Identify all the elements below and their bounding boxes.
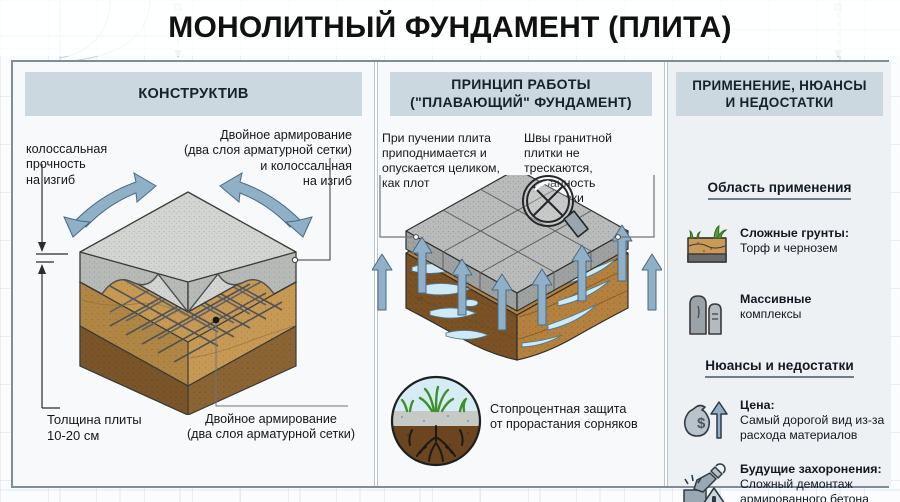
caption-slab-thickness: Толщина плиты 10-20 см [47, 412, 142, 444]
right-section-1-title: Область применения [668, 180, 891, 195]
list-item: Будущие захоронения: Сложный демонтаж ар… [682, 460, 890, 502]
list-item-body: комплексы [740, 307, 801, 321]
list-item-text: Будущие захоронения: Сложный демонтаж ар… [740, 460, 890, 502]
list-item-body: Самый дорогой вид из-за расхода материал… [740, 413, 884, 442]
list-item: Сложные грунты: Торф и чернозем [682, 224, 890, 266]
page-title: МОНОЛИТНЫЙ ФУНДАМЕНТ (ПЛИТА) [168, 11, 731, 45]
panel-middle-header: ПРИНЦИП РАБОТЫ ("ПЛАВАЮЩИЙ" ФУНДАМЕНТ) [390, 72, 652, 116]
slab-cutaway-illustration [18, 150, 363, 415]
list-item: $ Цена: Самый дорогой вид из-за расхода … [682, 396, 890, 444]
list-item-text: Массивные комплексы [740, 290, 811, 336]
caption-weed-protection: Стопроцентная защита от прорастания сорн… [490, 402, 642, 433]
floating-foundation-illustration [372, 175, 662, 370]
panel-left-header: КОНСТРУКТИВ [25, 72, 362, 116]
soil-block-icon [682, 224, 732, 266]
gravestones-icon [682, 290, 732, 336]
caption-double-reinforcement-bottom: Двойное армирование (два слоя арматурной… [185, 412, 357, 443]
shovel-warning-icon [682, 460, 732, 502]
list-item-title: Будущие захоронения: [740, 462, 882, 476]
list-item-text: Цена: Самый дорогой вид из-за расхода ма… [740, 396, 890, 444]
panel-right-header: ПРИМЕНЕНИЕ, НЮАНСЫ И НЕДОСТАТКИ [676, 72, 883, 116]
list-item-body: Сложный демонтаж армированного бетона сп… [740, 477, 869, 502]
weed-protection-icon [390, 375, 482, 467]
list-item-title: Массивные [740, 292, 811, 306]
list-item-title: Сложные грунты: [740, 226, 849, 240]
panel-primenenie: ПРИМЕНЕНИЕ, НЮАНСЫ И НЕДОСТАТКИ Область … [668, 62, 891, 486]
money-bag-icon: $ [682, 396, 732, 444]
list-item: Массивные комплексы [682, 290, 890, 336]
svg-text:$: $ [697, 415, 706, 432]
title-bar: МОНОЛИТНЫЙ ФУНДАМЕНТ (ПЛИТА) [0, 0, 900, 56]
list-item-body: Торф и чернозем [740, 241, 838, 255]
list-item-title: Цена: [740, 398, 775, 412]
right-section-2-title: Нюансы и недостатки [668, 358, 891, 373]
list-item-text: Сложные грунты: Торф и чернозем [740, 224, 849, 266]
